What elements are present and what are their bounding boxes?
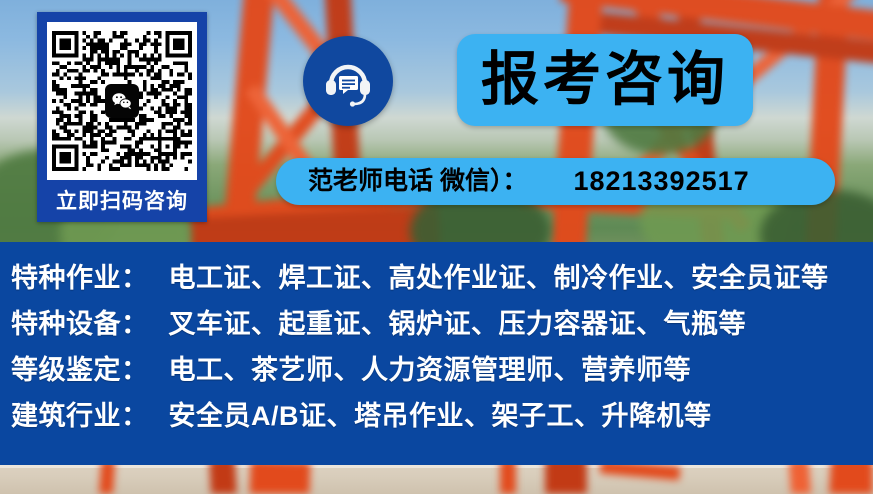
qr-code-card[interactable]: 立即扫码咨询 [37,12,207,222]
promo-poster: 立即扫码咨询 报考咨询 范老师电话 微信）： 18213392517 [0,0,873,494]
headset-support-icon [303,36,393,126]
consult-title-button[interactable]: 报考咨询 [457,34,753,126]
info-category: 建筑行业： [11,394,149,433]
info-category: 特种设备： [11,302,149,341]
consult-title-label: 报考咨询 [481,51,729,109]
info-items: 电工、茶艺师、人力资源管理师、营养师等 [169,348,692,387]
phone-label: 范老师电话 微信）： [308,169,527,194]
qr-caption: 立即扫码咨询 [47,180,197,224]
phone-contact-bar[interactable]: 范老师电话 微信）： 18213392517 [276,158,835,205]
phone-number[interactable]: 18213392517 [573,168,749,195]
info-items: 叉车证、起重证、锅炉证、压力容器证、气瓶等 [169,302,747,341]
info-items: 安全员A/B证、塔吊作业、架子工、升降机等 [169,394,712,433]
wechat-icon [105,84,139,118]
info-category: 特种作业： [11,256,149,295]
info-row: 等级鉴定： 电工、茶艺师、人力资源管理师、营养师等 [0,348,873,394]
info-row: 特种作业： 电工证、焊工证、高处作业证、制冷作业、安全员证等 [0,256,873,302]
info-category: 等级鉴定： [11,348,149,387]
info-row: 建筑行业： 安全员A/B证、塔吊作业、架子工、升降机等 [0,394,873,440]
info-row: 特种设备： 叉车证、起重证、锅炉证、压力容器证、气瓶等 [0,302,873,348]
qr-code-area[interactable] [47,22,197,180]
certificate-list-band: 特种作业： 电工证、焊工证、高处作业证、制冷作业、安全员证等 特种设备： 叉车证… [0,242,873,465]
info-items: 电工证、焊工证、高处作业证、制冷作业、安全员证等 [169,256,829,295]
